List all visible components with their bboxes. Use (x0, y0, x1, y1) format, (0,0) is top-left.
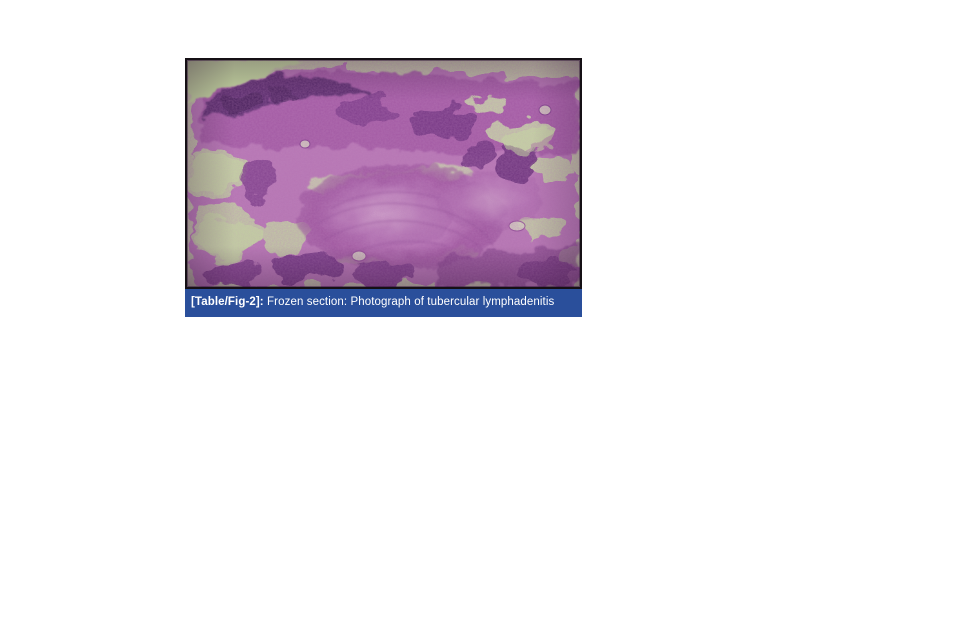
figure-block: [Table/Fig-2]: Frozen section: Photograp… (185, 58, 582, 317)
figure-caption-text: Frozen section: Photograph of tubercular… (264, 296, 555, 308)
micrograph-image (187, 60, 580, 287)
micrograph-frame (185, 58, 582, 289)
figure-caption-bar: [Table/Fig-2]: Frozen section: Photograp… (185, 289, 582, 317)
figure-caption-label: [Table/Fig-2]: (191, 296, 264, 308)
